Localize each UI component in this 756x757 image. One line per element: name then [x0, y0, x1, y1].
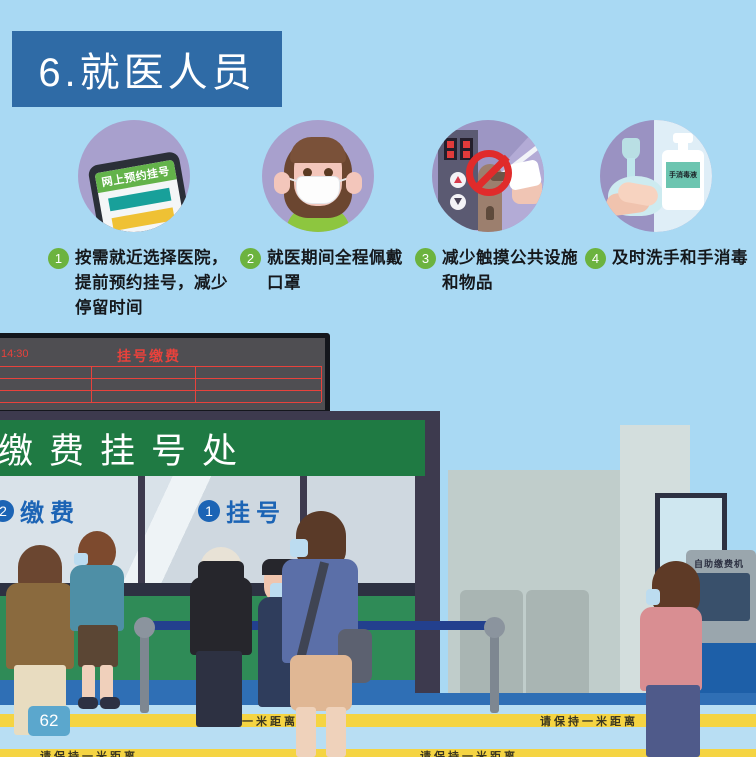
tip-item-2: 2 就医期间全程佩戴口罩 [240, 120, 415, 296]
page-title: 6.就医人员 [38, 40, 255, 98]
window-number-1: 1 [198, 500, 220, 522]
floor-distance-line-1: 请保持一米距离 请保持一米距离 [0, 714, 756, 727]
floor-distance-text-3: 请保持一米距离 [40, 749, 138, 757]
tip-number-badge-2: 2 [240, 248, 261, 269]
window-label-1: 挂号 [226, 493, 286, 528]
tip-text-4: 及时洗手和手消毒 [612, 246, 748, 271]
queue-post-2 [490, 625, 499, 713]
window-label-2: 缴费 [20, 493, 80, 528]
tip-text-1: 按需就近选择医院，提前预约挂号，减少停留时间 [75, 246, 238, 321]
prohibition-icon [466, 150, 512, 196]
led-time: 14:30 [1, 348, 29, 360]
led-title: 挂号缴费 [117, 346, 181, 366]
phone-row-teal [108, 188, 171, 212]
face-mask-icon [296, 176, 340, 204]
tip-number-badge-4: 4 [585, 248, 606, 269]
kiosk-label: 自助缴费机 [694, 557, 744, 570]
counter-sign: 缴费挂号处 [0, 420, 425, 476]
floor-distance-text-4: 请保持一米距离 [420, 749, 518, 757]
page-number-badge: 62 [28, 706, 70, 736]
window-divider-1 [138, 476, 145, 596]
tip-number-badge-3: 3 [415, 248, 436, 269]
counter-sign-text: 缴费挂号处 [0, 423, 253, 474]
woman-wearing-mask-icon [262, 120, 374, 232]
tip-text-2: 就医期间全程佩戴口罩 [267, 246, 415, 296]
service-window-1: 1 挂号 [198, 493, 286, 528]
title-banner: 6.就医人员 [12, 31, 282, 107]
tip-item-1: 网上预约挂号 1 按需就近选择医院，提前预约挂号，减少停留时间 [48, 120, 238, 321]
tips-row: 网上预约挂号 1 按需就近选择医院，提前预约挂号，减少停留时间 [0, 120, 756, 325]
phone-online-registration-icon: 网上预约挂号 [78, 120, 190, 232]
elevator-up-button-icon [450, 172, 466, 188]
elevator-down-button-icon [450, 194, 466, 210]
hospital-scene-illustration: 自助缴费机 14:30 挂号缴费 缴费挂号处 [0, 325, 756, 757]
tip-number-badge-1: 1 [48, 248, 69, 269]
faucet-icon [622, 138, 640, 160]
infographic-page: 6.就医人员 网上预约挂号 1 按需就近选择医院，提前预约挂号，减少停留时间 [0, 0, 756, 757]
led-grid [0, 366, 321, 402]
no-touch-public-surfaces-icon [432, 120, 544, 232]
tip-item-4: 手消毒液 4 及时洗手和手消毒 [585, 120, 755, 271]
service-window-2: 2 缴费 [0, 493, 80, 528]
tip-text-3: 减少触摸公共设施和物品 [442, 246, 590, 296]
wash-hands-sanitizer-icon: 手消毒液 [600, 120, 712, 232]
window-number-2: 2 [0, 500, 14, 522]
floor-distance-text-2: 请保持一米距离 [540, 714, 638, 727]
floor-distance-line-2: 请保持一米距离 请保持一米距离 [0, 749, 756, 757]
phone-row-yellow [112, 207, 175, 231]
ceiling [440, 400, 756, 475]
tip-item-3: 3 减少触摸公共设施和物品 [415, 120, 590, 296]
sanitizer-label: 手消毒液 [666, 162, 700, 188]
led-display-board: 14:30 挂号缴费 [0, 333, 330, 415]
queue-post-1 [140, 625, 149, 713]
